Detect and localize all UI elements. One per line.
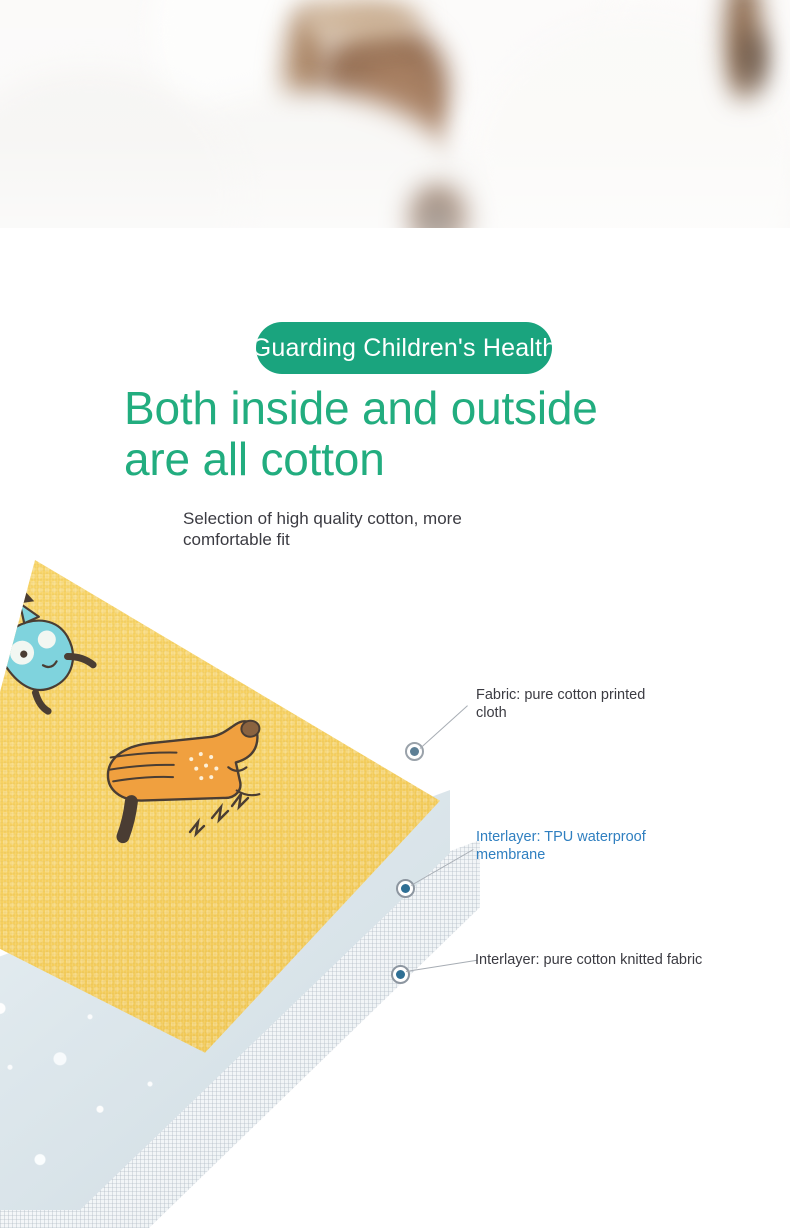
product-detail-page: Guarding Children's Health Both inside a… xyxy=(0,0,790,1228)
callout-leader-tpu xyxy=(411,849,474,886)
callout-marker-knit[interactable] xyxy=(391,965,410,984)
callout-label-knit: Interlayer: pure cotton knitted fabric xyxy=(475,951,765,969)
callout-marker-fabric[interactable] xyxy=(405,742,424,761)
callout-marker-tpu[interactable] xyxy=(396,879,415,898)
callout-annotations: Fabric: pure cotton printed cloth Interl… xyxy=(0,0,790,1228)
callout-label-fabric: Fabric: pure cotton printed cloth xyxy=(476,686,706,722)
callout-leader-fabric xyxy=(420,705,468,749)
callout-leader-knit xyxy=(406,960,477,972)
callout-label-tpu: Interlayer: TPU waterproof membrane xyxy=(476,828,724,864)
